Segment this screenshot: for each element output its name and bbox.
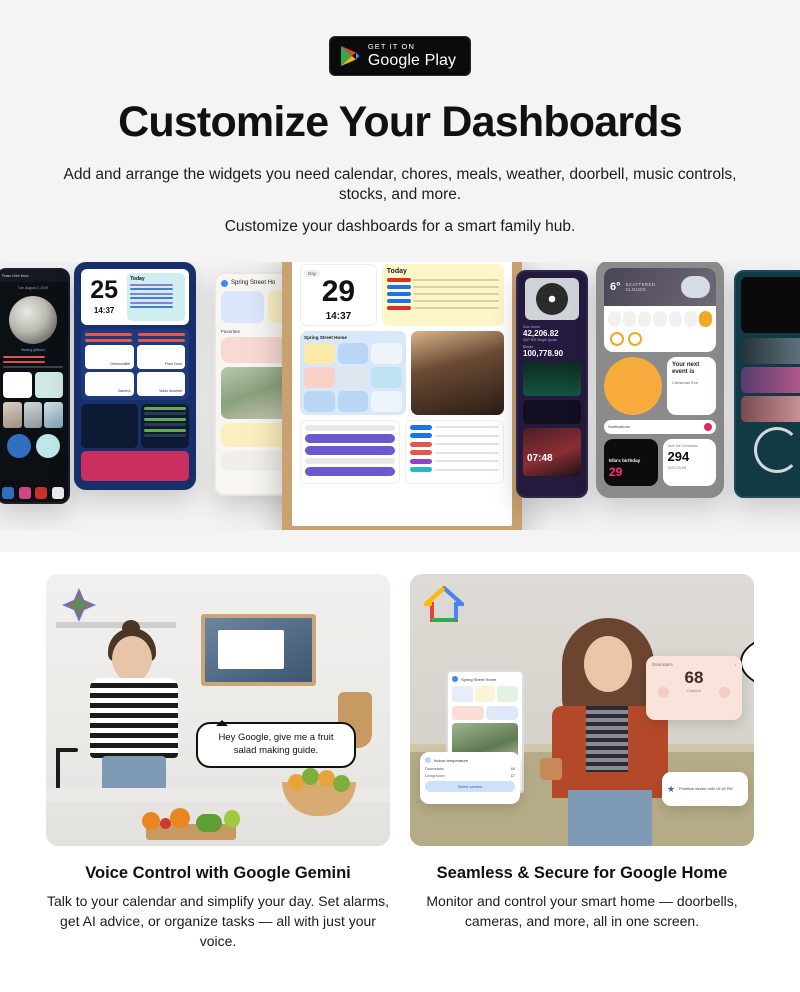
clock-photo-widget: 07:48	[523, 428, 581, 476]
minus-icon	[658, 687, 669, 698]
tile-label: Camera	[118, 389, 131, 393]
smart-home-body: Monitor and control your smart home — do…	[410, 892, 754, 932]
stock-chart-secondary	[523, 400, 581, 424]
home-title: Spring Street Ho	[231, 280, 275, 286]
temp-value: 67	[511, 774, 515, 778]
hub-tile-light[interactable]	[304, 343, 335, 364]
hub-tile-living-room[interactable]	[304, 391, 335, 412]
thermostat-float-card[interactable]: Downstairs › 68 Comfort	[646, 656, 742, 720]
stock-sub: S&P 500 Single Quote	[523, 338, 581, 342]
hub-day-chip: Day	[304, 270, 320, 277]
hub-tile-lamp[interactable]	[371, 391, 402, 412]
smart-home-card: Spring Street Home Downst	[410, 574, 754, 952]
indoor-temp-title: Indoor temperature	[434, 758, 468, 763]
thermostat-room: Downstairs	[652, 662, 673, 667]
notifications-badge	[704, 423, 712, 431]
tablet-home-title: Spring Street Home	[461, 677, 496, 682]
stock-value: 42,206.82	[523, 329, 581, 338]
bitcoin-value: 100,778.90	[523, 349, 581, 358]
star-icon: ★	[667, 784, 675, 795]
faucet	[56, 748, 60, 788]
badge-big-text: Google Play	[368, 53, 456, 69]
device-home-dashboard-tablet: 25 14:37 Today Dehumidifier Front Door	[74, 262, 196, 490]
smart-home-caption: Seamless & Secure for Google Home Monito…	[410, 864, 754, 932]
device-weather-events-phone: 6° SCATTERED CLOUDS Your next event is C…	[596, 262, 724, 498]
tablet-time: 14:37	[94, 306, 114, 315]
hub-today-widget: Today	[382, 264, 504, 326]
speech-bubble: Hey Google, give me a fruit salad making…	[196, 722, 356, 768]
hub-todo-widget	[405, 420, 505, 484]
voice-control-title: Voice Control with Google Gemini	[46, 864, 390, 883]
moon-phone-dock	[2, 487, 64, 499]
google-play-icon	[340, 45, 360, 67]
cameras-chip[interactable]	[221, 291, 264, 323]
notifications-label: Notifications	[608, 424, 630, 429]
hub-today-label: Today	[387, 268, 499, 275]
chevron-right-icon: ›	[735, 662, 736, 667]
birthday-title: Ella's birthday	[609, 458, 653, 463]
tile-label: Dehumidifier	[110, 362, 130, 366]
voice-control-card: Hey Google, give me a fruit salad making…	[46, 574, 390, 952]
hub-tile-thermostat[interactable]	[304, 367, 335, 388]
marketing-page: GET IT ON Google Play Customize Your Das…	[0, 0, 800, 992]
notifications-pill[interactable]: Notifications	[604, 420, 716, 434]
hub-tile-kitchen[interactable]	[371, 343, 402, 364]
tablet-today-label: Today	[130, 276, 182, 282]
moon-graphic	[9, 296, 57, 344]
progress-ring	[754, 427, 800, 473]
next-event-widget: Your next event is Christmas Eve	[667, 357, 716, 415]
hub-pet-photo	[411, 331, 504, 415]
page-subtitle-secondary: Customize your dashboards for a smart fa…	[0, 217, 800, 237]
car-widget	[81, 404, 138, 448]
wall-display	[201, 614, 316, 686]
select-camera-label: Select camera	[458, 785, 482, 789]
moon-phone-caption: Waxing gibbous	[0, 348, 68, 352]
groceries-widget	[141, 404, 189, 448]
temp-room: Living room	[425, 774, 445, 778]
thermostat-value: 68	[652, 669, 736, 688]
thermometer-icon	[425, 757, 431, 763]
tile-label: Front Door	[165, 362, 182, 366]
indoor-temp-card[interactable]: Indoor temperature Downstairs 66 Living …	[420, 752, 520, 804]
hub-time: 14:37	[326, 311, 352, 322]
birthday-countdown: 29	[609, 465, 622, 479]
page-subtitle: Add and arrange the widgets you need cal…	[0, 165, 800, 206]
hub-home-title: Spring Street Home	[304, 335, 402, 340]
hub-tile-blinds[interactable]	[338, 367, 369, 388]
google-play-badge[interactable]: GET IT ON Google Play	[329, 36, 471, 76]
priority-device-card[interactable]: ★ Prioritize device until 10:15 PM	[662, 772, 748, 806]
xmas-countdown: 294	[668, 449, 690, 464]
person-left	[88, 636, 180, 796]
moon-phone-cards	[3, 372, 63, 398]
moon-phone-photos	[3, 402, 63, 428]
weather-condition: SCATTERED CLOUDS	[626, 282, 676, 292]
google-home-icon	[424, 586, 464, 622]
voice-control-body: Talk to your calendar and simplify your …	[46, 892, 390, 952]
vegetables	[142, 806, 252, 834]
temp-value: 66	[511, 767, 515, 771]
badge-small-text: GET IT ON	[368, 43, 456, 51]
coffee-mug	[540, 758, 562, 780]
workout-video	[741, 277, 800, 333]
weather-forecast-days	[604, 306, 716, 332]
tablet-day-number: 25	[90, 278, 118, 303]
moon-phone-dials	[0, 434, 68, 458]
tablet-sensors: Dehumidifier Front Door Camera Video doo…	[81, 329, 189, 400]
moon-phone-date: Tue, August 3, 2019	[0, 286, 68, 290]
workout-card-cardio[interactable]	[741, 396, 800, 422]
next-event-title: Your next event is	[672, 362, 711, 377]
fruit-group	[288, 768, 350, 794]
kitchen-voice-photo: Hey Google, give me a fruit salad making…	[46, 574, 390, 846]
hub-chores-widget	[300, 420, 400, 484]
workout-card-strength[interactable]	[741, 338, 800, 364]
living-room-home-photo: Spring Street Home Downst	[410, 574, 754, 846]
device-fitness-phone	[734, 270, 800, 498]
hub-home-widget: Spring Street Home	[300, 331, 406, 415]
sparkle-icon	[62, 588, 96, 622]
hub-tile-garden[interactable]	[338, 391, 369, 412]
tablet-bottom-row	[81, 404, 189, 448]
moon-phone-title: Phase of the Moon	[2, 274, 29, 278]
hub-date-widget: Day 29 14:37	[300, 264, 377, 326]
vinyl-player-icon	[525, 278, 579, 320]
sun-dial-widget	[604, 357, 662, 415]
weather-temperature: 6°	[610, 281, 621, 293]
moon-phone-meta	[3, 356, 63, 368]
plus-icon	[719, 687, 730, 698]
hub-day-number: 29	[322, 277, 355, 307]
device-moon-phase-phone: Phase of the Moon Tue, August 3, 2019 Wa…	[0, 268, 70, 504]
clock-time: 07:48	[527, 453, 553, 464]
cloud-icon	[681, 276, 710, 298]
hub-tile-doorbell[interactable]	[338, 343, 369, 364]
tablet-date-widget: 25 14:37 Today	[81, 269, 189, 325]
features-section: Hey Google, give me a fruit salad making…	[0, 552, 800, 992]
next-event-sub: Christmas Eve	[672, 380, 711, 385]
stock-chart	[523, 362, 581, 396]
select-camera-button[interactable]: Select camera	[425, 781, 515, 792]
hub-tile-lock[interactable]	[371, 367, 402, 388]
music-widget	[81, 451, 189, 481]
speech-bubble-text: Hey Google, give me a fruit salad making…	[208, 732, 344, 758]
home-icon	[221, 280, 228, 287]
wall-shelf	[56, 622, 176, 628]
xmas-title: Until the Christmas	[668, 444, 712, 448]
smart-home-title: Seamless & Secure for Google Home	[410, 864, 754, 883]
page-title: Customize Your Dashboards	[0, 98, 800, 147]
voice-control-caption: Voice Control with Google Gemini Talk to…	[46, 864, 390, 952]
thought-bubble	[740, 634, 754, 696]
temp-room: Downstairs	[425, 767, 444, 771]
weather-gauges	[604, 332, 716, 352]
xmas-date: 2023-03-08	[668, 466, 712, 470]
tile-label: Video doorbell	[159, 389, 182, 393]
home-icon	[452, 676, 458, 682]
device-stocks-music-phone: Dow Jones 42,206.82 S&P 500 Single Quote…	[516, 270, 588, 498]
store-badge-row: GET IT ON Google Play	[0, 0, 800, 76]
device-family-hub-framed-tablet: Day 29 14:37 Today Spring	[282, 262, 522, 530]
christmas-widget: Until the Christmas 294 2023-03-08	[663, 439, 717, 486]
workout-card-full-body[interactable]	[741, 367, 800, 393]
weather-widget: 6° SCATTERED CLOUDS	[604, 268, 716, 352]
device-showcase: Phase of the Moon Tue, August 3, 2019 Wa…	[0, 262, 800, 530]
priority-device-text: Prioritize device until 10:15 PM	[679, 786, 732, 791]
birthday-widget: Ella's birthday 29	[604, 439, 658, 486]
